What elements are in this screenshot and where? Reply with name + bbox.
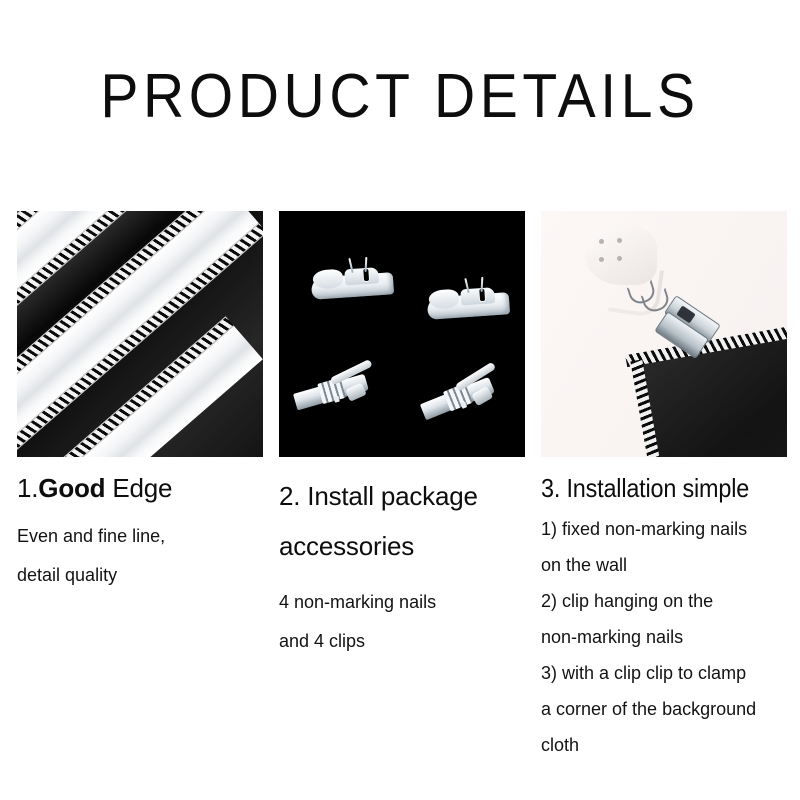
panel-2-heading: 2. Install package accessories: [279, 471, 529, 571]
panel-1-heading-strong: Good: [38, 473, 105, 503]
installation-photo: [541, 211, 787, 457]
spring-clip-icon: [291, 362, 382, 415]
wire-hook-icon: [629, 283, 671, 313]
panel-1-heading-rest: Edge: [105, 473, 172, 503]
fabric-edge-photo: [17, 211, 263, 457]
panel-2-body: 4 non-marking nails and 4 clips: [279, 583, 529, 661]
non-marking-nail-hook-icon: [426, 280, 510, 320]
panel-1-heading-number: 1.: [17, 473, 38, 503]
panels-row: 1.Good Edge Even and fine line, detail q…: [17, 211, 783, 763]
panel-3-body: 1) fixed non-marking nails on the wall 2…: [541, 511, 791, 763]
panel-3: 3. Installation simple 1) fixed non-mark…: [541, 211, 787, 763]
nail-hole: [599, 257, 604, 262]
spring-clip-icon: [417, 364, 508, 424]
panel-1-caption: 1.Good Edge Even and fine line, detail q…: [17, 471, 267, 595]
page-title: PRODUCT DETAILS: [32, 66, 768, 128]
nail-hole: [617, 256, 622, 261]
panel-3-heading: 3. Installation simple: [541, 471, 766, 505]
panel-1-heading: 1.Good Edge: [17, 471, 267, 505]
overlock-stitch-icon: [630, 359, 677, 457]
nail-hole: [599, 239, 604, 244]
accessories-photo: [279, 211, 525, 457]
panel-1: 1.Good Edge Even and fine line, detail q…: [17, 211, 263, 763]
panel-2-caption: 2. Install package accessories 4 non-mar…: [279, 471, 529, 661]
panel-1-body: Even and fine line, detail quality: [17, 517, 267, 595]
non-marking-nail-hook-icon: [310, 260, 394, 300]
panel-3-caption: 3. Installation simple 1) fixed non-mark…: [541, 471, 791, 763]
nail-hole: [617, 238, 622, 243]
panel-2: 2. Install package accessories 4 non-mar…: [279, 211, 525, 763]
